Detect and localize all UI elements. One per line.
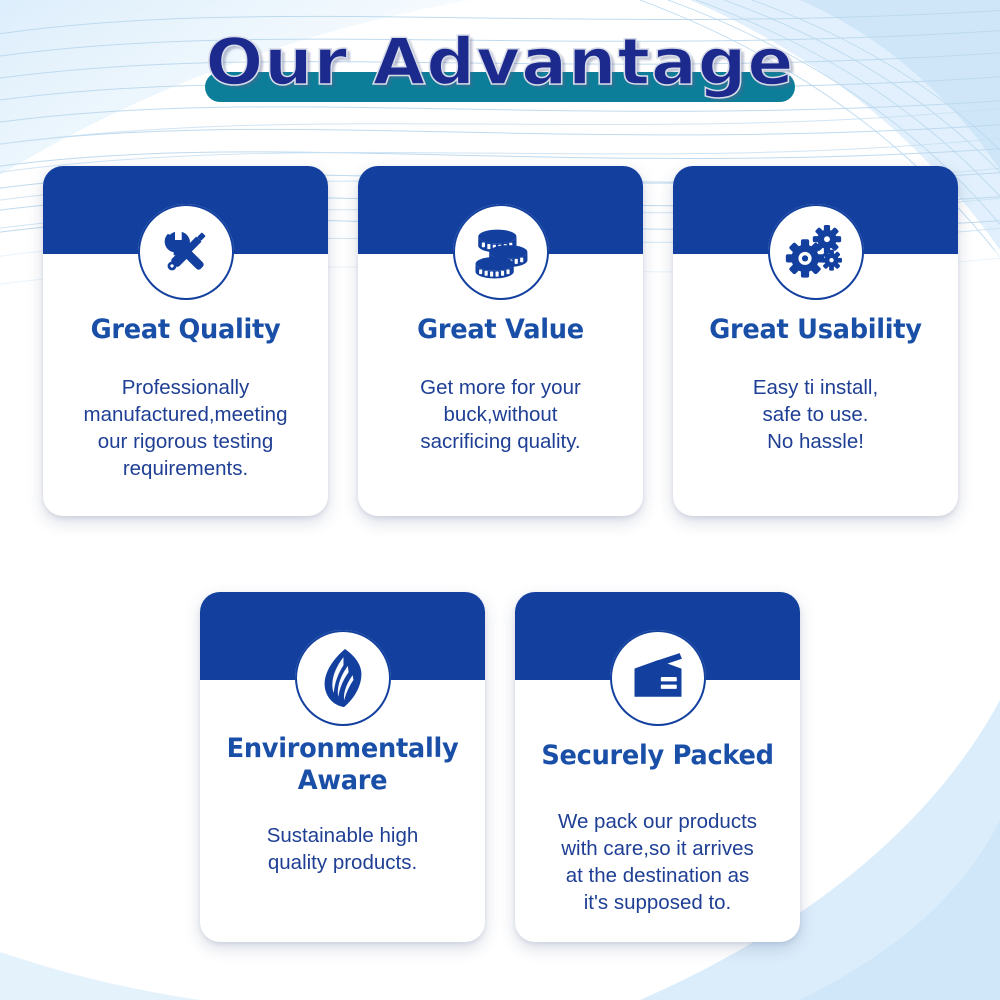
card-title: Environmentally Aware: [215, 733, 471, 797]
card-body: Sustainable high quality products.: [212, 822, 473, 876]
advantage-card-great-usability: Great Usability Easy ti install, safe to…: [673, 166, 958, 516]
title-wrap: Our Advantage: [0, 18, 1000, 108]
card-body: Professionally manufactured,meeting our …: [55, 374, 316, 482]
page-title: Our Advantage: [0, 18, 1000, 108]
page-header: Our Advantage: [0, 0, 1000, 150]
card-body: Easy ti install, safe to use. No hassle!: [685, 374, 946, 455]
card-body: Get more for your buck,without sacrifici…: [370, 374, 631, 455]
card-title: Securely Packed: [530, 740, 786, 772]
card-body: We pack our products with care,so it arr…: [527, 808, 788, 916]
advantage-card-great-value: Great Value Get more for your buck,witho…: [358, 166, 643, 516]
coins-icon: [453, 204, 549, 300]
advantage-card-securely-packed: Securely Packed We pack our products wit…: [515, 592, 800, 942]
gears-icon: [768, 204, 864, 300]
card-title: Great Usability: [688, 314, 944, 346]
tools-icon: [138, 204, 234, 300]
advantage-card-great-quality: Great Quality Professionally manufacture…: [43, 166, 328, 516]
package-icon: [610, 630, 706, 726]
leaf-icon: [295, 630, 391, 726]
advantage-card-environmentally-aware: Environmentally Aware Sustainable high q…: [200, 592, 485, 942]
card-title: Great Value: [373, 314, 629, 346]
card-title: Great Quality: [58, 314, 314, 346]
